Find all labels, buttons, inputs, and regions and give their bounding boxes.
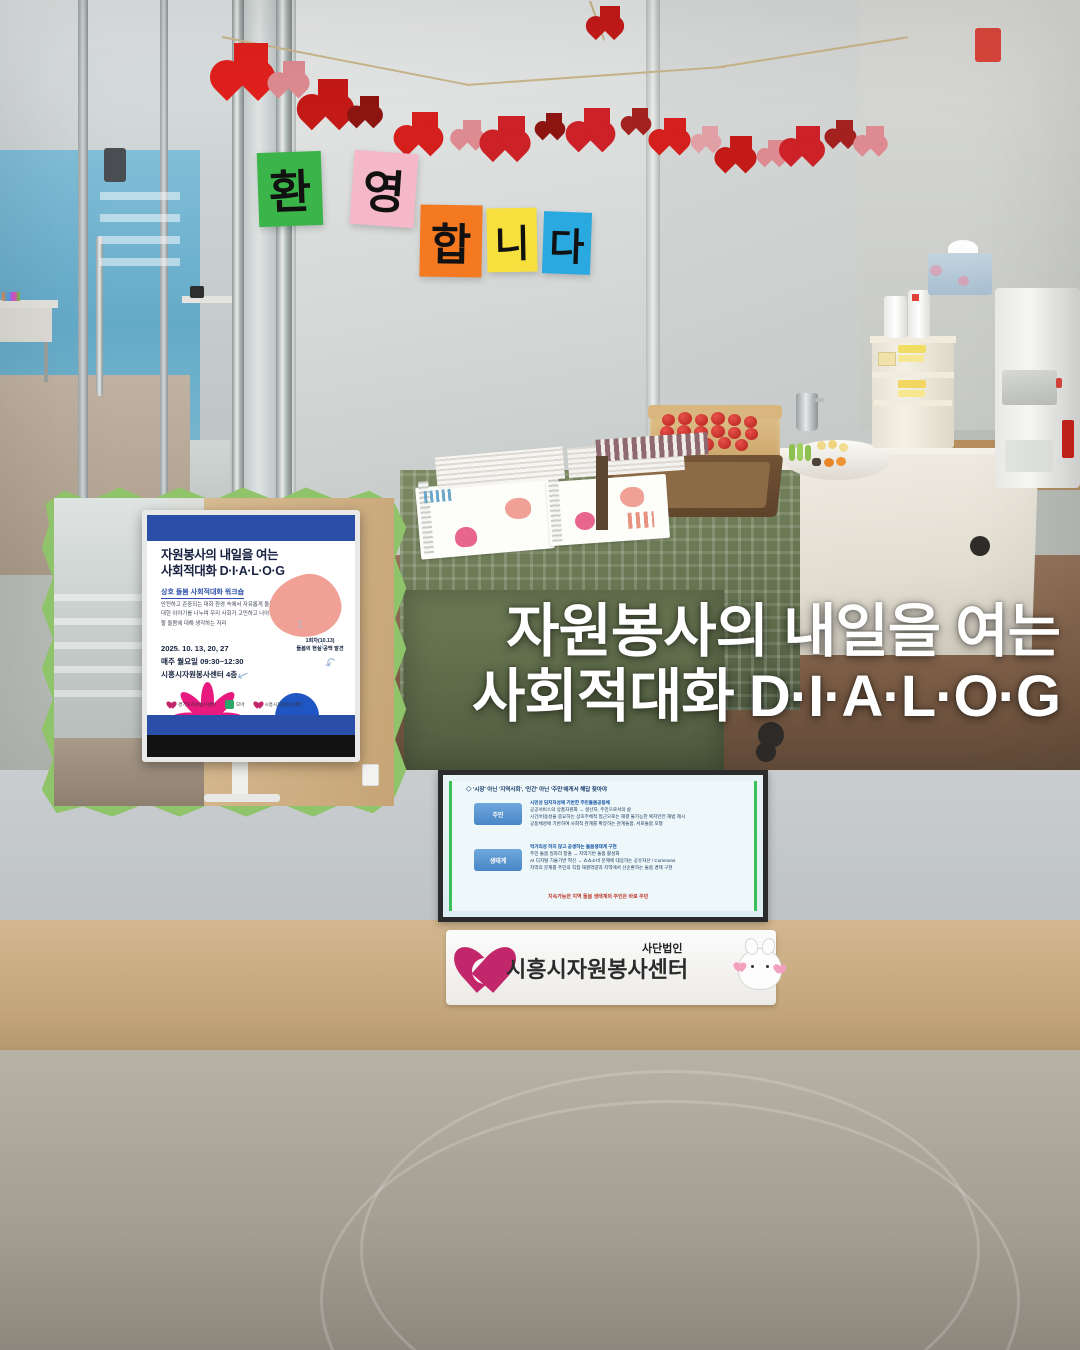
cheese-cube <box>817 441 826 450</box>
booklet-cover-dots <box>627 511 654 529</box>
cherry-tomato <box>678 412 692 425</box>
paper-cup-stack <box>884 296 907 338</box>
mascot-eye <box>751 965 754 968</box>
celery-stick <box>789 444 795 461</box>
welcome-card-char: 합 <box>430 209 472 274</box>
cherry-tomato <box>728 427 741 439</box>
cherry-tomato <box>662 414 675 426</box>
cherry-tomato <box>735 439 748 451</box>
shelf-board <box>872 372 954 378</box>
booklet-cover-dots <box>424 489 453 503</box>
monitor-base <box>204 794 280 802</box>
kettle-spout <box>815 398 825 402</box>
tissue-box-pattern <box>958 276 969 286</box>
heart-decoration <box>866 126 884 144</box>
heart-decoration <box>546 113 562 129</box>
slide-heading: ◇ '시장' 아닌 '지역사회', '민간' 아닌 '주민'에게서 해답 찾아야 <box>466 785 746 793</box>
slide-bullet: AI 디지털 기술기반 혁신 → 쇼쇼소비 문제에 대응하는 공유자산 / Co… <box>530 857 760 864</box>
welcome-card-1: 영 <box>349 150 418 228</box>
snack-packet <box>898 380 926 388</box>
dispenser-drip-tray <box>1005 440 1053 472</box>
slide-content: ◇ '시장' 아닌 '지역사회', '민간' 아닌 '주민'에게서 해답 찾아야… <box>449 781 757 911</box>
slide-group-title: 시민성 담지자성에 기반한 주민돌봄공동체 <box>530 799 760 806</box>
mascot-heart-icon <box>734 961 746 972</box>
poster-title-line1: 자원봉사의 내일을 여는 <box>161 547 285 563</box>
monitor-stand <box>232 762 248 798</box>
bottom-photo-workshop: ◇ '시장' 아닌 '지역사회', '민간' 아닌 '주민'에게서 해답 찾아야… <box>0 770 1080 1350</box>
booklet-cover-blob <box>619 486 644 508</box>
bunny-mascot-icon <box>738 948 782 990</box>
heart-decoration <box>283 61 305 83</box>
slide-tag-1: 생태계 <box>474 849 522 871</box>
heart-decoration <box>796 126 820 150</box>
desk-bin <box>190 286 204 298</box>
poster-title: 자원봉사의 내일을 여는 사회적대화 D·I·A·L·O·G <box>161 547 285 580</box>
poster-subtitle: 상호 돌봄 사회적대화 워크숍 <box>161 587 244 599</box>
slide-bullet: 공공서비스의 상품자원화 → 생산자, 주민으로서의 삶 <box>530 806 760 813</box>
cherry-tomato <box>718 437 731 449</box>
welcome-card-2: 합 <box>419 204 482 277</box>
office-desk <box>0 300 58 308</box>
welcome-card-char: 환 <box>268 155 313 222</box>
frosted-stripe <box>100 192 180 200</box>
welcome-card-char: 영 <box>361 155 408 224</box>
heart-decoration <box>730 136 752 158</box>
mascot-heart-icon <box>774 963 786 974</box>
poster-title-line2: 사회적대화 D·I·A·L·O·G <box>161 563 285 579</box>
heart-decoration <box>632 108 648 124</box>
door-access-panel[interactable] <box>104 148 126 182</box>
olive <box>812 458 821 466</box>
table-caster <box>756 742 776 762</box>
overlay-title: 자원봉사의 내일을 여는 사회적대화 D·I·A·L·O·G <box>0 600 1080 730</box>
hot-water-button[interactable] <box>1056 378 1062 388</box>
overlay-title-line1: 자원봉사의 내일을 여는 <box>0 600 1060 665</box>
welcome-card-4: 다 <box>542 211 592 275</box>
slide-bullet: 지역의 문제를 주민의 직접 해결역량과 지역에서 선순환하는 돌봄 경제 구현 <box>530 864 760 871</box>
booklet-cover-flower <box>454 526 478 548</box>
slide-bullet: 주민 돌봄 일자리 창출 → 지역기반 돌봄 활성화 <box>530 850 760 857</box>
office-desk-panel <box>0 308 52 342</box>
slide-group-0: 시민성 담지자성에 기반한 주민돌봄공동체 공공서비스의 상품자원화 → 생산자… <box>530 799 760 827</box>
welcome-card-char: 니 <box>494 212 530 268</box>
cherry-tomato <box>745 428 758 440</box>
glass-frame <box>78 0 88 560</box>
booklet-stack <box>546 474 670 546</box>
tea-bag-box <box>878 352 896 366</box>
slide-bullet: 공동체성에 기반하여 사회적 관계를 확장하는 관계돌봄, 서로돌봄 모형 <box>530 820 760 827</box>
fire-alarm <box>975 28 1001 62</box>
slide-tag-0: 주민 <box>474 803 522 825</box>
mascot-ear <box>760 937 777 957</box>
cherry-tomato <box>728 414 741 426</box>
cherry-tomato <box>744 416 757 428</box>
table-leg <box>596 456 608 530</box>
wall-outlet <box>362 764 379 786</box>
red-panel <box>1062 420 1074 458</box>
org-prefix: 사단법인 <box>642 940 682 956</box>
carrot-slice <box>824 458 834 467</box>
frosted-stripe <box>100 214 180 222</box>
org-name: 시흥시자원봉사센터 <box>506 952 688 984</box>
heart-decoration <box>412 112 438 138</box>
heart-decoration <box>234 43 268 77</box>
cherry-tomato <box>695 414 708 426</box>
booklet-stack <box>415 476 555 559</box>
overlay-title-line2: 사회적대화 D·I·A·L·O·G <box>0 665 1060 730</box>
poster-top-bar <box>147 515 355 541</box>
heart-decoration <box>498 116 525 143</box>
heart-decoration <box>600 6 620 26</box>
heart-decoration <box>584 108 610 134</box>
welcome-card-3: 니 <box>486 208 537 273</box>
table-caster <box>970 536 990 556</box>
celery-stick <box>797 443 803 461</box>
projector-screen: ◇ '시장' 아닌 '지역사회', '민간' 아닌 '주민'에게서 해답 찾아야… <box>438 770 768 922</box>
mascot-ear <box>743 937 760 957</box>
cheese-cube <box>828 440 837 449</box>
frosted-stripe <box>100 236 180 244</box>
snack-packet <box>898 390 925 397</box>
welcome-card-char: 다 <box>549 215 586 271</box>
cheese-cube <box>839 443 848 452</box>
heart-decoration <box>360 96 379 115</box>
celery-stick <box>805 445 811 461</box>
heart-decoration <box>463 120 481 138</box>
slide-group-1: 먹거리성 하지 않고 공생하는 돌봄생태계 구현 주민 돌봄 일자리 창출 → … <box>530 843 760 871</box>
dispenser-tap <box>1002 370 1057 405</box>
slide-group-title: 먹거리성 하지 않고 공생하는 돌봄생태계 구현 <box>530 843 760 850</box>
tissue-box-pattern <box>930 265 942 276</box>
desk-leg <box>44 342 48 382</box>
slide-bullet: 시간/비용성을 중요하는 상호주체적 접근으로는 해결 불가능한 복지안전 해법… <box>530 813 760 820</box>
heart-decoration <box>664 118 686 140</box>
carrot-slice <box>836 457 846 466</box>
cherry-tomato <box>711 412 725 425</box>
snack-packet <box>898 355 924 362</box>
glass-frame <box>160 0 168 560</box>
heart-decoration <box>702 126 718 142</box>
frosted-stripe <box>100 258 180 266</box>
mascot-eye <box>766 965 769 968</box>
heart-decoration <box>836 120 853 137</box>
photo-collage: 환 영 합 니 다 <box>0 0 1080 1350</box>
desk-items <box>2 292 20 301</box>
heart-decoration <box>318 79 348 109</box>
slide-footer: 지속가능한 지역 돌봄 생태계의 주인은 바로 주민 <box>548 893 648 900</box>
shelf-board <box>874 400 952 406</box>
snack-packet <box>898 345 926 353</box>
welcome-card-0: 환 <box>257 151 324 227</box>
heart-logo-cutout <box>472 958 498 984</box>
cup-logo <box>912 294 919 301</box>
monitor-letterbox <box>147 735 355 757</box>
org-logo-board: 시흥시자원봉사센터 사단법인 <box>446 930 776 1005</box>
